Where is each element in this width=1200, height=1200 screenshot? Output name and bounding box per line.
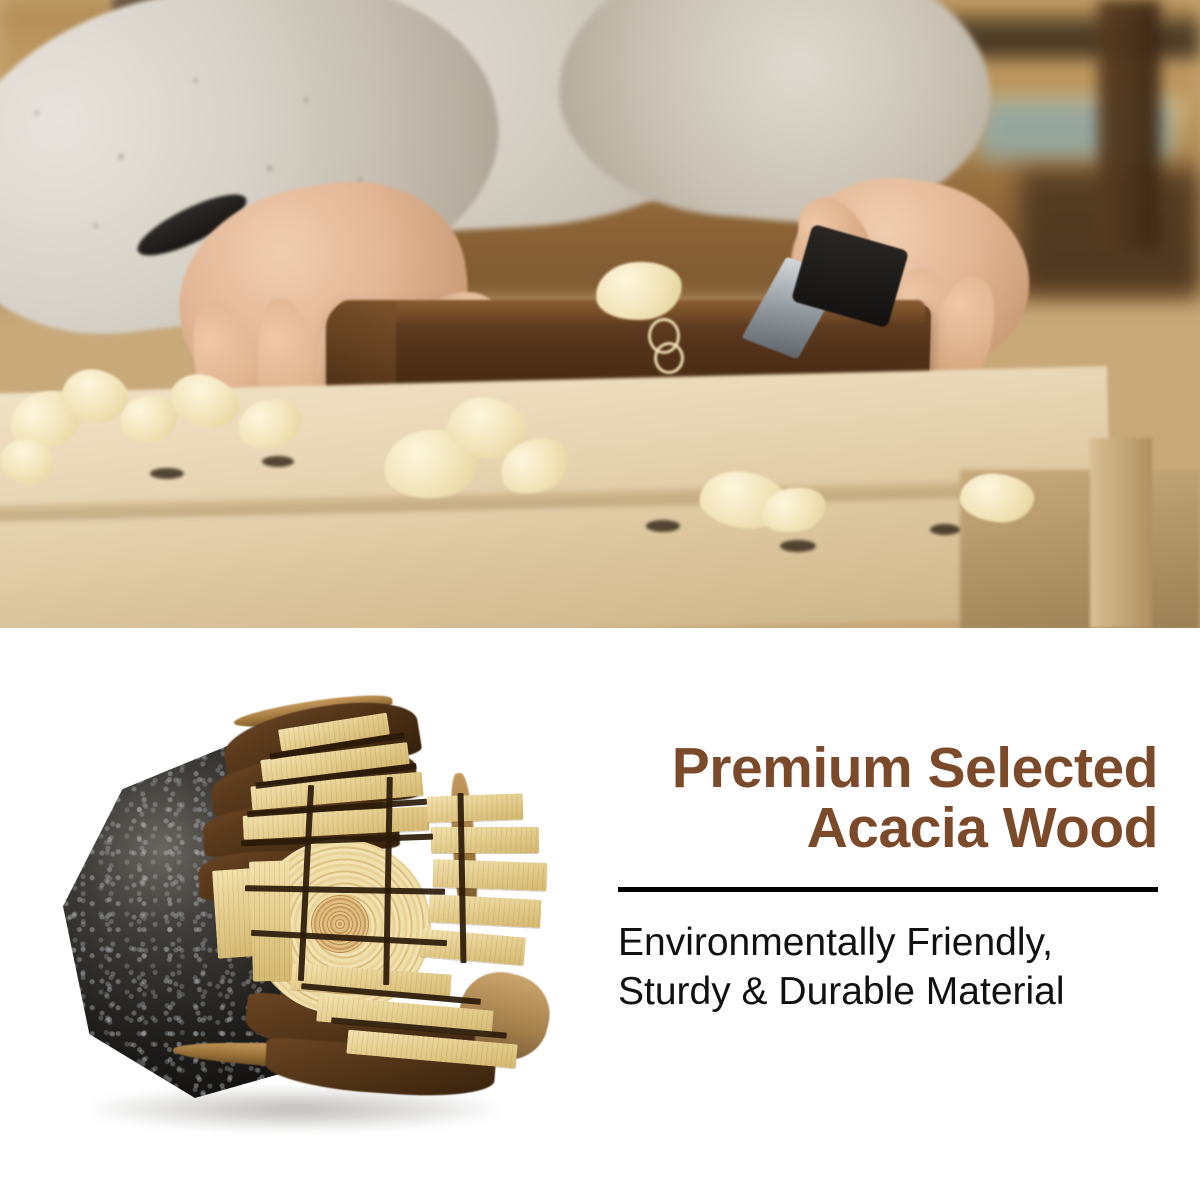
sawn-plank: [428, 894, 541, 928]
bench-dog-hole: [646, 520, 680, 532]
workshop-photo: [0, 0, 1200, 628]
subheadline: Environmentally Friendly,Sturdy & Durabl…: [618, 918, 1158, 1016]
sawn-plank: [427, 793, 524, 822]
sawn-plank: [249, 860, 293, 981]
sawn-plank: [420, 929, 526, 966]
bench-dog-hole: [780, 540, 816, 552]
bench-dog-hole: [262, 456, 294, 467]
feature-text-block: Premium SelectedAcacia Wood Environmenta…: [618, 738, 1158, 1016]
divider-rule: [618, 887, 1158, 892]
headline-line-1: Premium Selected: [672, 736, 1158, 800]
background-post: [1098, 0, 1160, 250]
sawn-plank: [431, 827, 539, 853]
subheadline-line-1: Environmentally Friendly,: [618, 921, 1053, 964]
subheadline-line-2: Sturdy & Durable Material: [618, 970, 1065, 1013]
product-feature-banner: Premium SelectedAcacia Wood Environmenta…: [0, 0, 1200, 1200]
headline: Premium SelectedAcacia Wood: [618, 738, 1158, 859]
bench-dog-hole: [150, 468, 184, 479]
bench-dog-hole: [930, 524, 960, 535]
growth-rings-core: [311, 895, 369, 953]
log-cross-section-image: [55, 673, 555, 1163]
wood-shaving-curl: [654, 342, 684, 374]
feature-panel: Premium SelectedAcacia Wood Environmenta…: [0, 628, 1200, 1200]
sawn-plank: [433, 859, 548, 891]
headline-line-2: Acacia Wood: [807, 796, 1158, 860]
workbench-post: [1090, 438, 1152, 628]
